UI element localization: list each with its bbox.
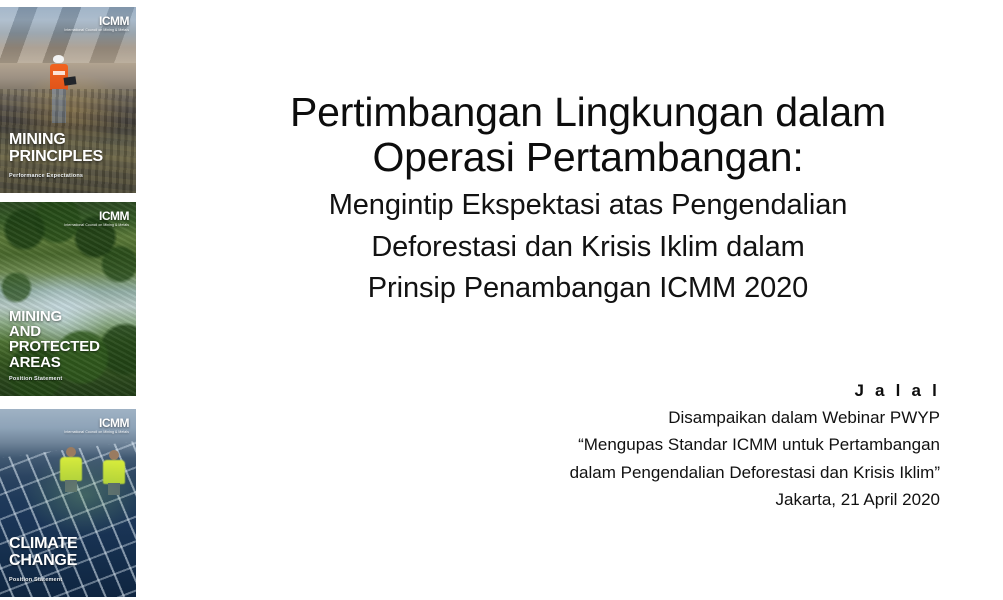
cover-subtitle: Performance Expectations bbox=[9, 173, 83, 179]
page-subtitle: Prinsip Penambangan ICMM 2020 bbox=[236, 268, 940, 309]
icmm-logo-words: International Council on Mining & Metals bbox=[64, 223, 129, 227]
cover-subtitle: Position Statement bbox=[9, 376, 62, 382]
slide-subtitle-block: Mengintip Ekspektasi atas Pengendalian D… bbox=[236, 185, 940, 309]
page-subtitle: Deforestasi dan Krisis Iklim dalam bbox=[236, 227, 940, 268]
slide-content: Pertimbangan Lingkungan dalam Operasi Pe… bbox=[136, 0, 1003, 600]
cover-title-line: AREAS bbox=[9, 355, 100, 370]
icmm-logo: ICMM International Council on Mining & M… bbox=[64, 210, 129, 227]
attribution-line: Disampaikan dalam Webinar PWYP bbox=[570, 404, 940, 432]
cover-title-line: CHANGE bbox=[9, 553, 78, 569]
worker-legs bbox=[52, 89, 66, 123]
page-title: Pertimbangan Lingkungan dalam bbox=[236, 90, 940, 135]
cover-mining-and-protected-areas: ICMM International Council on Mining & M… bbox=[0, 202, 136, 396]
attribution-block: J a l a l Disampaikan dalam Webinar PWYP… bbox=[570, 378, 940, 514]
cover-title: MINING AND PROTECTED AREAS bbox=[9, 309, 100, 370]
icmm-logo-words: International Council on Mining & Metals bbox=[64, 430, 129, 434]
icmm-logo-words: International Council on Mining & Metals bbox=[64, 28, 129, 32]
cover-title-line: AND bbox=[9, 324, 100, 339]
page-title: Operasi Pertambangan: bbox=[236, 135, 940, 180]
solar-site-worker-figure bbox=[103, 450, 125, 494]
icmm-publication-covers: ICMM International Council on Mining & M… bbox=[0, 0, 136, 600]
icmm-logo: ICMM International Council on Mining & M… bbox=[64, 15, 129, 32]
cover-title-line: PROTECTED bbox=[9, 339, 100, 354]
icmm-logo-mark: ICMM bbox=[64, 15, 129, 27]
worker-head bbox=[66, 447, 76, 457]
open-pit-mine-worker-photo bbox=[0, 7, 136, 193]
slide-title-block: Pertimbangan Lingkungan dalam Operasi Pe… bbox=[236, 90, 940, 309]
icmm-logo-mark: ICMM bbox=[64, 210, 129, 222]
hi-vis-jacket bbox=[60, 457, 82, 481]
worker-legs bbox=[108, 483, 120, 495]
cover-title: CLIMATE CHANGE bbox=[9, 536, 78, 569]
cover-climate-change: ICMM International Council on Mining & M… bbox=[0, 409, 136, 597]
page-subtitle: Mengintip Ekspektasi atas Pengendalian bbox=[236, 185, 940, 226]
attribution-line: dalam Pengendalian Deforestasi dan Krisi… bbox=[570, 459, 940, 487]
hard-hat-icon bbox=[53, 55, 64, 63]
solar-site-worker-figure bbox=[60, 447, 82, 491]
cover-title-line: MINING bbox=[9, 309, 100, 324]
cover-title-line: PRINCIPLES bbox=[9, 149, 103, 165]
cover-subtitle: Position Statement bbox=[9, 577, 62, 583]
mine-worker-figure bbox=[49, 55, 71, 125]
attribution-line: Jakarta, 21 April 2020 bbox=[570, 486, 940, 514]
worker-head bbox=[109, 450, 119, 460]
tablet-device-icon bbox=[63, 77, 76, 87]
cover-mining-principles: ICMM International Council on Mining & M… bbox=[0, 7, 136, 193]
cover-title: MINING PRINCIPLES bbox=[9, 132, 103, 165]
cover-title-line: CLIMATE bbox=[9, 536, 78, 552]
worker-legs bbox=[65, 480, 77, 492]
icmm-logo: ICMM International Council on Mining & M… bbox=[64, 417, 129, 434]
author-name: J a l a l bbox=[570, 378, 940, 404]
cover-title-line: MINING bbox=[9, 132, 103, 148]
attribution-line: “Mengupas Standar ICMM untuk Pertambanga… bbox=[570, 431, 940, 459]
hi-vis-jacket bbox=[103, 460, 125, 484]
icmm-logo-mark: ICMM bbox=[64, 417, 129, 429]
